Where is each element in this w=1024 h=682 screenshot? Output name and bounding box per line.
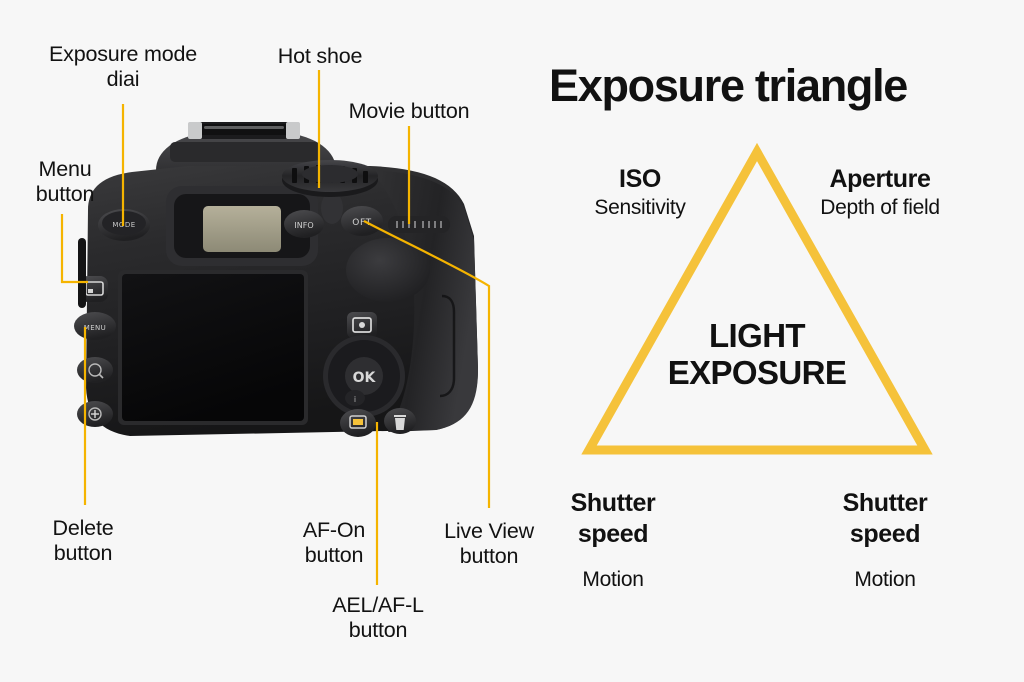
exposure-mode-dial: MODE — [98, 209, 150, 241]
iso-heading: ISO — [594, 164, 685, 195]
shutter-right-subtext: Motion — [843, 567, 928, 593]
callout-hot-shoe: Hot shoe — [278, 44, 362, 69]
mode-dial — [282, 160, 378, 197]
movie-button — [388, 216, 450, 233]
svg-text:MODE: MODE — [112, 221, 135, 229]
shutter-left-subtext: Motion — [571, 567, 656, 593]
callout-exposure-mode-dial: Exposure mode diai — [49, 42, 197, 93]
svg-text:i: i — [354, 395, 356, 404]
zoom-out-button — [77, 357, 113, 383]
callout-ael-af-l-button: AEL/AF-L button — [332, 593, 424, 644]
callout-af-on-button: AF-On button — [303, 518, 365, 569]
callout-movie-button: Movie button — [349, 99, 470, 124]
triangle-corner-iso: ISO Sensitivity — [594, 164, 685, 220]
multi-selector-dial: OK — [323, 335, 405, 417]
shutter-right-heading: Shutter speed — [843, 488, 928, 549]
zoom-in-button — [77, 401, 113, 427]
callout-delete-button: Delete button — [53, 516, 114, 567]
delete-button — [384, 408, 416, 434]
side-port-cover — [78, 238, 86, 308]
svg-text:OK: OK — [353, 370, 377, 386]
triangle-center-label: LIGHT EXPOSURE — [668, 318, 847, 392]
svg-text:INFO: INFO — [294, 221, 313, 230]
af-on-button: OFT — [341, 206, 383, 236]
aperture-subtext: Depth of field — [820, 195, 940, 221]
info-small-button: i — [345, 390, 365, 406]
aperture-heading: Aperture — [820, 164, 940, 195]
callout-menu-button: Menu button — [36, 157, 95, 208]
callout-live-view-button: Live View button — [444, 519, 534, 570]
menu-button: MENU — [74, 312, 116, 340]
shutter-left-heading: Shutter speed — [571, 488, 656, 549]
infographic-page: MODE MENU — [0, 0, 1024, 682]
triangle-corner-aperture: Aperture Depth of field — [820, 164, 940, 220]
lcd-screen — [118, 270, 308, 425]
svg-text:MENU: MENU — [84, 324, 106, 332]
ael-af-l-button — [340, 409, 376, 437]
iso-subtext: Sensitivity — [594, 195, 685, 221]
triangle-corner-shutter-left: Shutter speed Motion — [571, 470, 656, 611]
triangle-corner-shutter-right: Shutter speed Motion — [843, 470, 928, 611]
info-button: INFO — [284, 210, 324, 238]
hot-shoe — [188, 122, 300, 139]
panel-title: Exposure triangle — [549, 60, 907, 112]
svg-text:OFT: OFT — [352, 218, 371, 228]
live-view-button — [347, 312, 377, 338]
thumb-grip-pad — [346, 238, 430, 302]
camera-rear-illustration: MODE MENU — [70, 118, 500, 463]
